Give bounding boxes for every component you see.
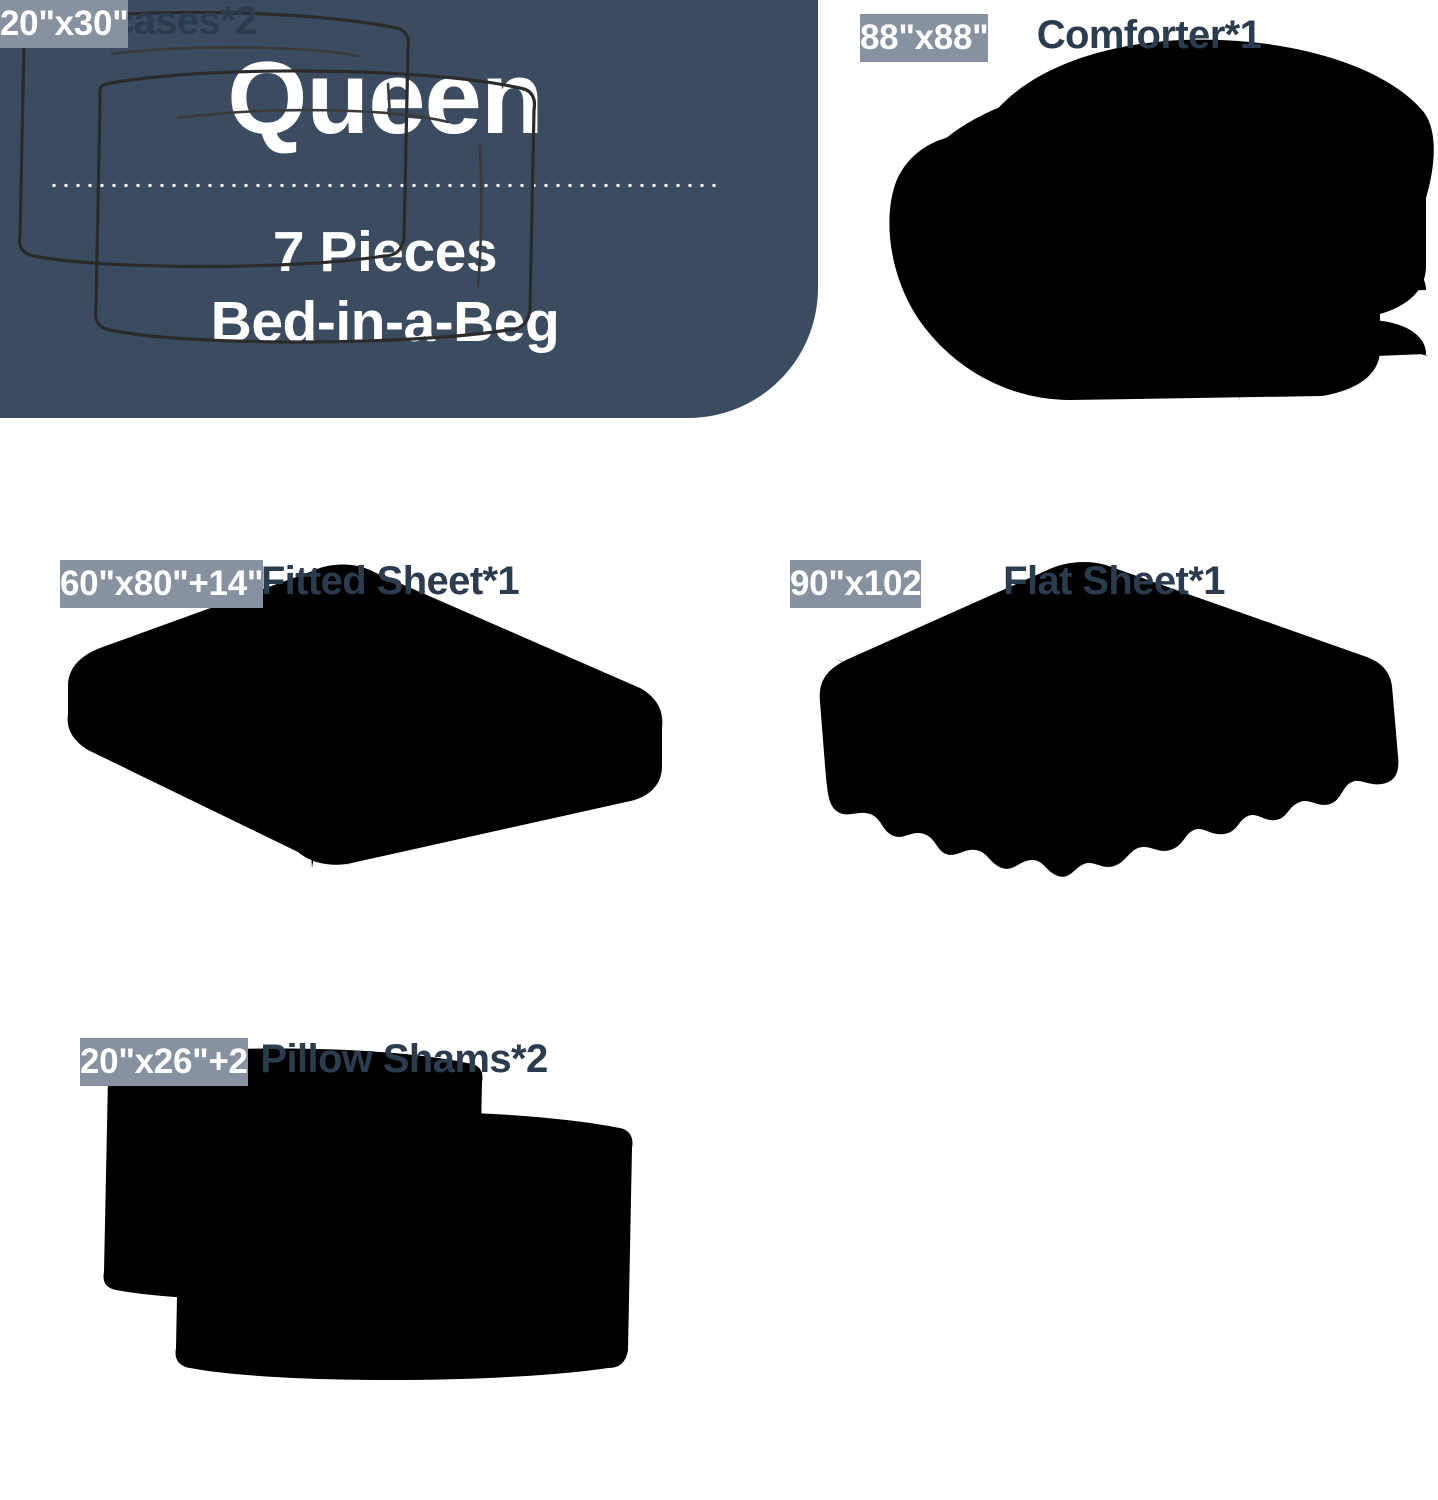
item-pillow-shams: Pillow Shams*2 20"x26"+2 [80, 1038, 728, 1500]
item-fitted-sheet: Fitted Sheet*1 60"x80"+14" [60, 560, 720, 1020]
folded-comforter-icon [860, 14, 1438, 419]
pillow-shams-icon [80, 1038, 700, 1393]
item-size-badge-pillowcases: 20"x30" [0, 0, 128, 48]
item-size-badge-flat-sheet: 90"x102 [790, 560, 921, 608]
pillowcases-icon [0, 0, 600, 350]
item-flat-sheet: Flat Sheet*1 90"x102 [790, 560, 1438, 1020]
item-size-badge-fitted-sheet: 60"x80"+14" [60, 560, 263, 608]
item-comforter: Comforter*1 88"x88" [860, 14, 1438, 524]
flat-sheet-icon [790, 560, 1410, 895]
fitted-sheet-icon [60, 560, 680, 905]
item-size-badge-comforter: 88"x88" [860, 14, 988, 62]
product-infographic: Queen 7 Pieces Bed-in-a-Beg [0, 0, 1438, 1500]
item-size-badge-pillow-shams: 20"x26"+2 [80, 1038, 248, 1086]
